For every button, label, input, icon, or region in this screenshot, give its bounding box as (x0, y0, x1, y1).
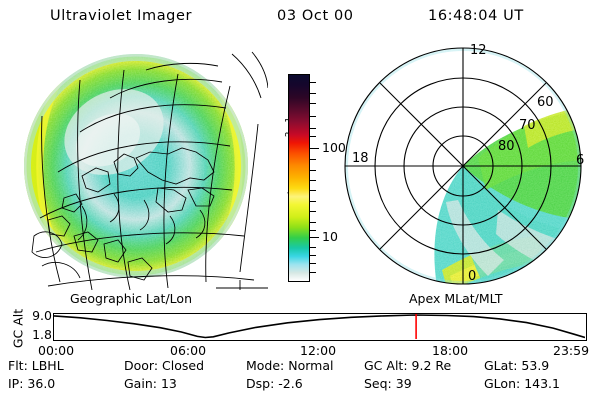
polar-grid (345, 48, 581, 284)
mlt-label: 0 (468, 269, 476, 284)
colorbar-minor-tick (310, 211, 316, 212)
colorbar-minor-tick (310, 128, 316, 129)
status-mode-label: Mode: (246, 358, 284, 373)
colorbar-minor-tick (310, 159, 316, 160)
observation-date: 03 Oct 00 (277, 8, 354, 24)
colorbar-minor-tick (310, 247, 316, 248)
orbit-altitude-trace (54, 314, 585, 339)
colorbar-minor-tick (310, 180, 316, 181)
status-flt: Flt: LBHL (8, 358, 64, 373)
colorbar-tick-label: 10 (322, 231, 338, 244)
colorbar-minor-tick (310, 190, 316, 191)
colorbar-minor-tick (310, 93, 316, 94)
mlat-ring-label: 80 (498, 139, 515, 154)
orbit-x-tick-label: 12:00 (300, 343, 336, 358)
apex-polar-panel: 121860 607080 (338, 40, 590, 292)
status-glon-label: GLon: (484, 376, 520, 391)
colorbar-minor-tick (310, 263, 316, 264)
mlat-ring-label: 60 (537, 95, 554, 110)
geographic-panel-caption: Geographic Lat/Lon (70, 291, 192, 306)
status-ip-value: 36.0 (27, 376, 55, 391)
colorbar-minor-tick (310, 103, 316, 104)
colorbar-minor-tick (310, 255, 316, 256)
status-flt-label: Flt: (8, 358, 28, 373)
colorbar-minor-tick (310, 230, 316, 231)
status-gcalt-value: 9.2 Re (412, 358, 452, 373)
status-ip-label: IP: (8, 376, 23, 391)
observation-time: 16:48:04 UT (428, 8, 524, 24)
orbit-y-min-tick: 1.8 (22, 327, 52, 342)
colorbar-minor-tick (310, 136, 316, 137)
geographic-aurora-image (18, 40, 268, 290)
status-glon: GLon: 143.1 (484, 376, 560, 391)
status-seq-label: Seq: (364, 376, 392, 391)
header-bar: Ultraviolet Imager 03 Oct 00 16:48:04 UT (0, 6, 600, 30)
orbit-altitude-panel: GC Alt 9.0 1.8 00:0006:0012:0018:0023:59 (0, 305, 600, 355)
mlt-label: 6 (576, 153, 584, 168)
status-glat-label: GLat: (484, 358, 517, 373)
orbit-x-tick-label: 18:00 (432, 343, 468, 358)
status-gcalt: GC Alt: 9.2 Re (364, 358, 451, 373)
colorbar-minor-tick (310, 222, 316, 223)
colorbar-minor-tick (310, 272, 316, 273)
colorbar-minor-tick (310, 116, 316, 117)
status-glat-value: 53.9 (521, 358, 549, 373)
status-seq: Seq: 39 (364, 376, 412, 391)
colorbar-minor-tick (310, 170, 316, 171)
mlat-ring-label: 70 (519, 118, 536, 133)
uvi-display-window: Ultraviolet Imager 03 Oct 00 16:48:04 UT (0, 0, 600, 400)
colorbar-major-tick (310, 148, 319, 149)
status-gain: Gain: 13 (124, 376, 177, 391)
status-dsp: Dsp: -2.6 (246, 376, 303, 391)
status-flt-value: LBHL (32, 358, 64, 373)
mlt-label: 12 (470, 43, 487, 58)
colorbar-minor-tick (310, 201, 316, 202)
status-ip: IP: 36.0 (8, 376, 55, 391)
status-gain-value: 13 (161, 376, 177, 391)
status-door-label: Door: (124, 358, 158, 373)
status-gain-label: Gain: (124, 376, 157, 391)
instrument-title: Ultraviolet Imager (50, 8, 192, 24)
status-gcalt-label: GC Alt: (364, 358, 408, 373)
status-seq-value: 39 (396, 376, 412, 391)
colorbar-minor-tick (310, 82, 316, 83)
status-door-value: Closed (162, 358, 204, 373)
colorbar-gradient (288, 74, 310, 282)
altitude-curve (54, 315, 585, 338)
status-mode-value: Normal (288, 358, 333, 373)
orbit-x-tick-label: 06:00 (170, 343, 206, 358)
status-glat: GLat: 53.9 (484, 358, 549, 373)
mlt-label: 18 (352, 151, 369, 166)
status-dsp-value: -2.6 (278, 376, 302, 391)
status-door: Door: Closed (124, 358, 204, 373)
status-dsp-label: Dsp: (246, 376, 274, 391)
apex-mlat-mlt-plot: 121860 607080 (338, 40, 590, 292)
apex-panel-caption: Apex MLat/MLT (409, 291, 503, 306)
status-block: Flt: LBHL IP: 36.0 Door: Closed Gain: 13… (0, 358, 600, 400)
status-glon-value: 143.1 (524, 376, 560, 391)
orbit-x-tick-label: 00:00 (38, 343, 74, 358)
orbit-plot-box[interactable] (53, 313, 587, 341)
orbit-y-max-tick: 9.0 (22, 308, 52, 323)
geographic-image-panel (18, 40, 268, 290)
colorbar-major-tick (310, 237, 319, 238)
orbit-x-tick-label: 23:59 (553, 343, 589, 358)
status-mode: Mode: Normal (246, 358, 334, 373)
